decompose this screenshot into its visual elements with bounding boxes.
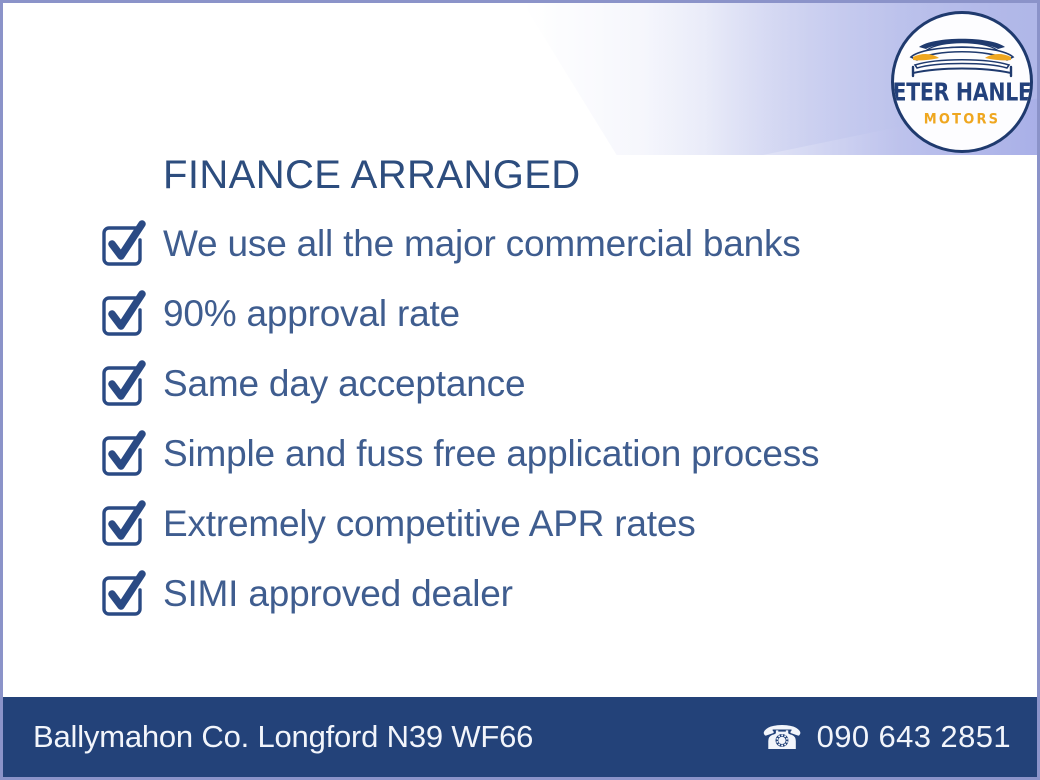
- finance-advert-poster: PETER HANLEY MOTORS FINANCE ARRANGED We …: [0, 0, 1040, 780]
- checkbox-checked-icon: [95, 218, 147, 270]
- list-item: Extremely competitive APR rates: [95, 489, 995, 559]
- telephone-icon: ☎: [761, 721, 802, 754]
- footer-address: Ballymahon Co. Longford N39 WF66: [33, 719, 533, 755]
- footer-phone-number[interactable]: 090 643 2851: [817, 719, 1011, 755]
- list-item-label: Simple and fuss free application process: [163, 433, 819, 475]
- benefits-list: We use all the major commercial banks 90…: [95, 209, 995, 629]
- checkbox-checked-icon: [95, 568, 147, 620]
- footer-contact-bar: Ballymahon Co. Longford N39 WF66 ☎ 090 6…: [3, 697, 1037, 777]
- page-title: FINANCE ARRANGED: [163, 153, 581, 198]
- checkbox-checked-icon: [95, 428, 147, 480]
- list-item: Same day acceptance: [95, 349, 995, 419]
- brand-logo: PETER HANLEY MOTORS: [891, 11, 1033, 153]
- checkbox-checked-icon: [95, 498, 147, 550]
- list-item: SIMI approved dealer: [95, 559, 995, 629]
- list-item: We use all the major commercial banks: [95, 209, 995, 279]
- logo-brand-name: PETER HANLEY: [891, 80, 1033, 105]
- list-item-label: Extremely competitive APR rates: [163, 503, 696, 545]
- checkbox-checked-icon: [95, 358, 147, 410]
- list-item-label: SIMI approved dealer: [163, 573, 513, 615]
- checkbox-checked-icon: [95, 288, 147, 340]
- list-item: 90% approval rate: [95, 279, 995, 349]
- list-item-label: We use all the major commercial banks: [163, 223, 801, 265]
- list-item-label: 90% approval rate: [163, 293, 460, 335]
- list-item-label: Same day acceptance: [163, 363, 525, 405]
- footer-phone-group[interactable]: ☎ 090 643 2851: [761, 719, 1011, 755]
- list-item: Simple and fuss free application process: [95, 419, 995, 489]
- logo-brand-subtitle: MOTORS: [924, 111, 1000, 128]
- car-front-icon: [903, 27, 1021, 81]
